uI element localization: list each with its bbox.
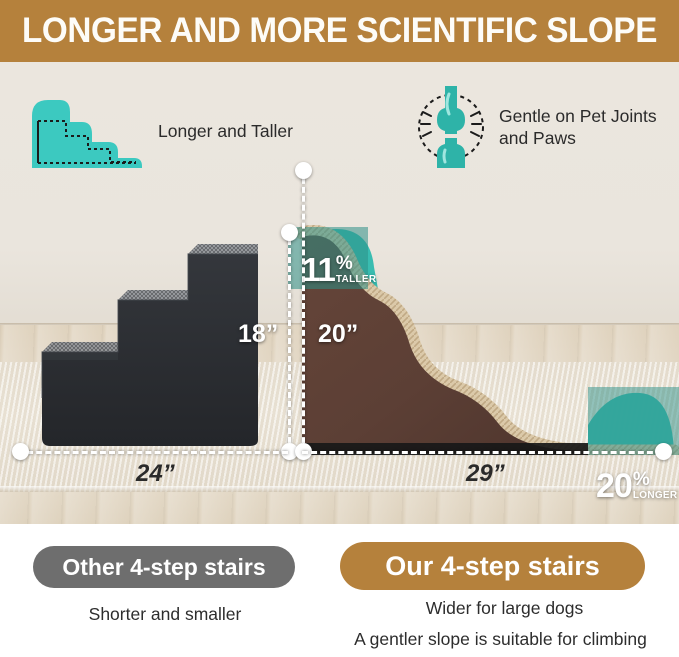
width-label-29: 29” (466, 460, 505, 488)
height-label-18: 18” (238, 320, 278, 349)
height-dimension-line-20 (302, 169, 305, 452)
caption-our-stairs-line2: A gentler slope is suitable for climbing (322, 629, 679, 650)
longer-badge: 20 % LONGER (596, 470, 677, 502)
width-dimension-line-24 (18, 451, 288, 454)
dimension-node-20-top (295, 162, 312, 179)
feature-gentle-on-joints: Gentle on Pet Joints and Paws (415, 84, 679, 170)
bone-joint-icon (415, 84, 487, 170)
longer-badge-percent: % (633, 470, 650, 489)
page-title: LONGER AND MORE SCIENTIFIC SLOPE (22, 11, 657, 51)
comparison-footer: Other 4-step stairs Our 4-step stairs Sh… (0, 524, 679, 657)
pill-other-stairs: Other 4-step stairs (33, 546, 295, 588)
product-comparison-scene: Longer and Taller (0, 62, 679, 524)
dimension-node-24-left (12, 443, 29, 460)
feature-label-longer-taller: Longer and Taller (158, 120, 293, 142)
caption-our-stairs-line1: Wider for large dogs (330, 598, 679, 619)
area-rug-edge (0, 486, 679, 492)
taller-badge: 11 % TALLER (302, 254, 376, 285)
width-label-24: 24” (136, 460, 175, 488)
caption-other-stairs: Shorter and smaller (0, 604, 330, 625)
dimension-node-29-right (655, 443, 672, 460)
longer-badge-word: LONGER (633, 491, 678, 501)
taller-badge-number: 11 (302, 254, 335, 285)
our-stairs-product (288, 167, 679, 455)
width-dimension-line-29 (302, 451, 662, 454)
longer-badge-number: 20 (596, 470, 632, 502)
stairs-steps-icon (26, 92, 144, 170)
taller-badge-word: TALLER (336, 275, 377, 285)
feature-label-gentle-joints: Gentle on Pet Joints and Paws (499, 105, 679, 150)
height-dimension-line-18 (288, 230, 291, 452)
dimension-node-18-top (281, 224, 298, 241)
pill-our-stairs: Our 4-step stairs (340, 542, 645, 590)
feature-longer-and-taller: Longer and Taller (26, 92, 293, 170)
infographic-page: LONGER AND MORE SCIENTIFIC SLOPE Longer … (0, 0, 679, 657)
taller-badge-percent: % (336, 254, 353, 273)
height-label-20: 20” (318, 320, 358, 349)
header-banner: LONGER AND MORE SCIENTIFIC SLOPE (0, 0, 679, 62)
